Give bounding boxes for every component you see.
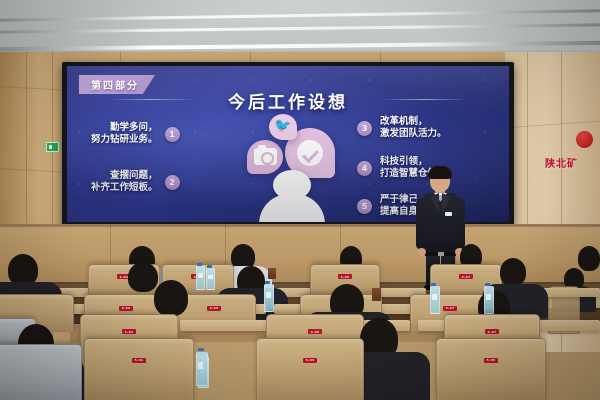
wall-banner-text: 陕北矿: [545, 155, 600, 170]
screenshot-root: 陕北矿 第四部分 今后工作设想 🐦: [0, 0, 600, 400]
bottle-cap: [431, 283, 436, 286]
speaker-suit-jacket: [420, 193, 461, 255]
seat-number-tag: 5-03: [303, 358, 317, 363]
speaker-hand-left: [417, 248, 426, 256]
seat-number-tag: 3-02: [119, 306, 133, 311]
wall-banner: 陕北矿: [545, 152, 600, 186]
seat: 5-03: [256, 338, 364, 400]
banner-ornament-icon: [576, 131, 593, 148]
seat-number-tag: 5-05: [484, 358, 498, 363]
thermos-cup: [268, 268, 276, 279]
seat-number-tag: 2-05: [338, 274, 352, 279]
ceiling-light-strip: [0, 23, 600, 33]
seat-number-tag: 4-05: [308, 329, 322, 334]
emergency-exit-sign: [46, 142, 59, 152]
seat-number-tag: 3-07: [443, 306, 457, 311]
seat-number-tag: 5-01: [132, 358, 146, 363]
seat-number-tag: 4-07: [485, 329, 499, 334]
thermos-cup: [372, 288, 381, 301]
bottle-cap: [207, 265, 212, 268]
speaker-name-badge: [445, 212, 452, 216]
speaker-hair: [428, 166, 452, 179]
attendee-head: [578, 246, 600, 271]
wall-trim: [0, 224, 600, 227]
bottle-cap: [198, 348, 204, 351]
water-bottle: [430, 286, 440, 314]
seat: 5-01: [84, 338, 194, 400]
bottle-cap: [197, 263, 202, 266]
attendee-head: [128, 262, 158, 292]
attendee-head: [500, 258, 526, 286]
speaker-belt-buckle: [438, 252, 444, 256]
seat-number-tag: 3-03: [207, 306, 221, 311]
seat-number-tag: 2-07: [459, 274, 473, 279]
bottle-cap: [485, 283, 490, 286]
ceiling-light-strip: [0, 9, 600, 21]
seat-number-tag: 4-02: [122, 329, 136, 334]
water-bottle: [206, 268, 215, 290]
attendee-head: [154, 280, 188, 316]
seat: [0, 344, 82, 400]
seat: 5-05: [436, 338, 546, 400]
water-bottle: [484, 286, 494, 314]
water-bottle: [264, 284, 274, 312]
bottle-cap: [265, 281, 270, 284]
water-bottle: [196, 266, 205, 290]
water-bottle: [196, 352, 208, 386]
